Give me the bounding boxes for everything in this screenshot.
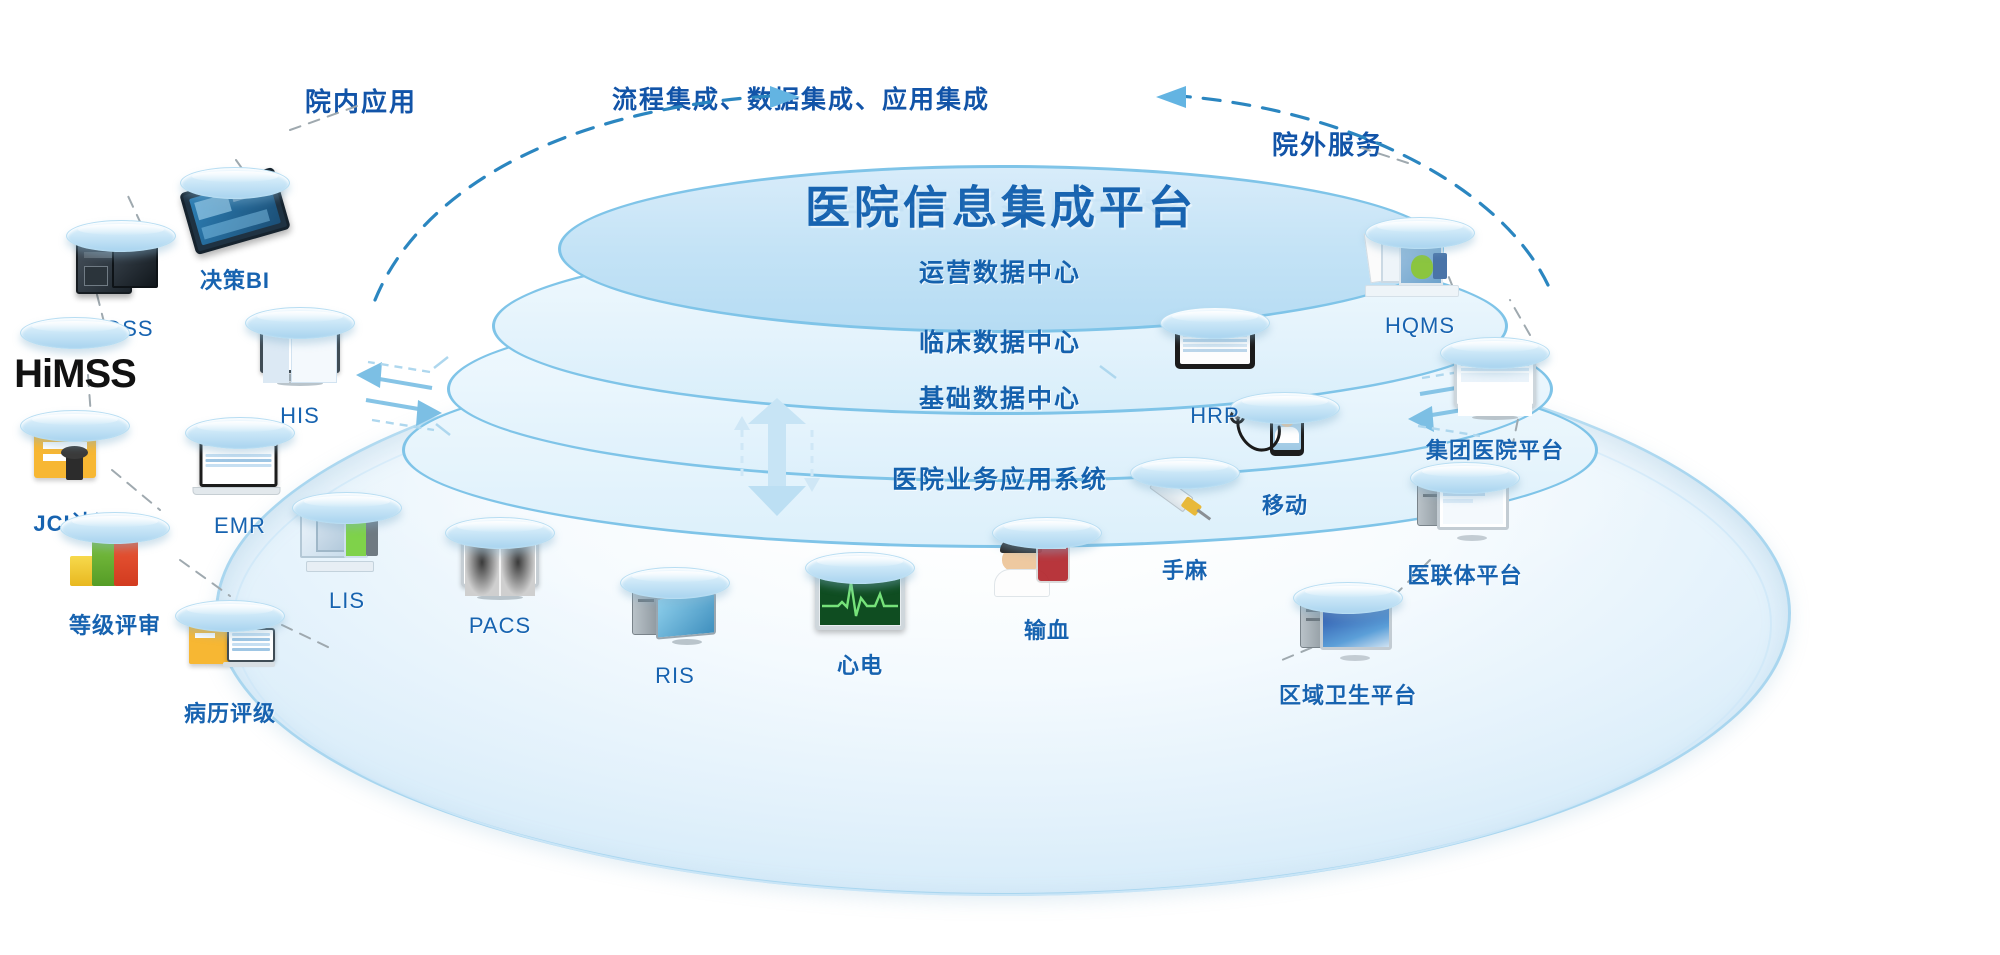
node-art-wrap: [972, 517, 1122, 609]
node-label: 区域卫生平台: [1258, 678, 1438, 710]
node-pedestal: [1440, 337, 1550, 369]
node-pedestal: [620, 567, 730, 599]
node-pedestal: [445, 517, 555, 549]
node-art-wrap: [785, 552, 935, 644]
node-label: 输血: [972, 613, 1122, 645]
node-art-wrap: [425, 517, 575, 609]
node-transfusion[interactable]: 输血: [972, 455, 1122, 645]
node-pacs[interactable]: PACS: [425, 455, 575, 639]
node-pedestal: [60, 512, 170, 544]
node-label: 心电: [785, 648, 935, 680]
node-pedestal: [175, 600, 285, 632]
node-pedestal: [1293, 582, 1403, 614]
node-regional-health[interactable]: 区域卫生平台: [1258, 520, 1438, 710]
node-art-wrap: [600, 567, 750, 659]
node-pedestal: [1160, 307, 1270, 339]
integration-arrow-right: [1156, 86, 1186, 108]
node-pedestal: [245, 307, 355, 339]
node-pedestal: [180, 167, 290, 199]
node-label: PACS: [425, 613, 575, 639]
node-pedestal: [805, 552, 915, 584]
platform-title: 医院信息集成平台: [558, 171, 1444, 236]
node-pedestal: [292, 492, 402, 524]
node-ecg[interactable]: 心电: [785, 490, 935, 680]
node-pedestal: [20, 317, 130, 349]
node-label: HRP: [1140, 403, 1290, 429]
node-lis[interactable]: LIS: [272, 430, 422, 614]
internal-apps-heading: 院内应用: [305, 82, 417, 119]
node-label: 病历评级: [155, 696, 305, 728]
diagram-canvas: 医院信息集成平台 医院信息集成平台 运营数据中心 临床数据中心 基础数据中心 医…: [0, 0, 2000, 955]
node-pedestal: [1365, 217, 1475, 249]
integration-heading: 流程集成、数据集成、应用集成: [612, 80, 990, 116]
node-pedestal: [20, 410, 130, 442]
node-pedestal: [66, 220, 176, 252]
node-label: 手麻: [1110, 553, 1260, 585]
node-art-wrap: [1140, 307, 1290, 399]
node-hrp[interactable]: HRP: [1140, 245, 1290, 429]
node-ris[interactable]: RIS: [600, 505, 750, 689]
node-art-wrap: [1258, 582, 1438, 674]
node-label: LIS: [272, 588, 422, 614]
node-pedestal: [992, 517, 1102, 549]
node-label: 移动: [1210, 488, 1360, 520]
node-label: RIS: [600, 663, 750, 689]
node-art-wrap: [272, 492, 422, 584]
node-pedestal: [1410, 462, 1520, 494]
